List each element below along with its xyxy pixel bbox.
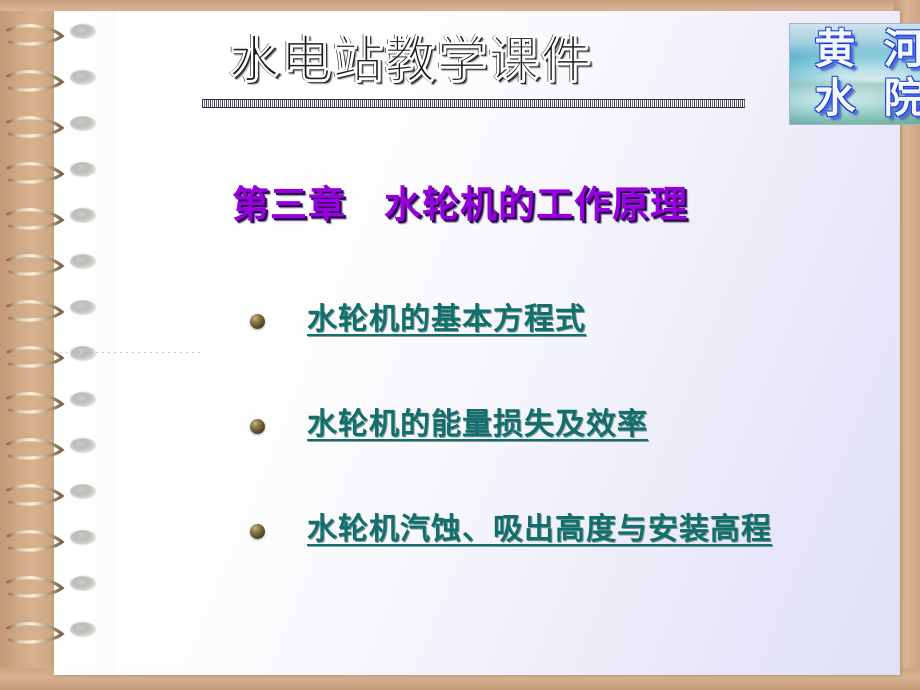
section-link-cavitation-suction-height[interactable]: 水轮机汽蚀、吸出高度与安装高程: [307, 507, 772, 553]
notebook-cover-top: [0, 0, 920, 11]
institute-logo: 黄 河 水 院: [789, 23, 920, 125]
punch-hole-icon: [70, 484, 96, 499]
faint-guide-line: [54, 352, 204, 353]
punch-hole-icon: [70, 70, 96, 85]
punch-hole-icon: [70, 530, 96, 545]
list-item[interactable]: 水轮机的能量损失及效率: [250, 402, 920, 507]
punch-hole-icon: [70, 162, 96, 177]
sphere-bullet-icon: [250, 314, 265, 329]
punch-hole-icon: [70, 300, 96, 315]
section-link-energy-loss-efficiency[interactable]: 水轮机的能量损失及效率: [307, 402, 648, 448]
punch-hole-icon: [70, 346, 96, 361]
list-item[interactable]: 水轮机的基本方程式: [250, 297, 920, 402]
punch-hole-icon: [70, 208, 96, 223]
punch-hole-icon: [70, 116, 96, 131]
punch-hole-icon: [70, 438, 96, 453]
institute-logo-text: 黄 河 水 院: [790, 24, 920, 123]
title-underline-rule: [202, 99, 745, 108]
punch-hole-strip: [54, 11, 116, 675]
punch-hole-icon: [70, 24, 96, 39]
presentation-slide: 水电站教学课件 黄 河 水 院 第三章 水轮机的工作原理 水轮机的基本方程式 水…: [0, 0, 920, 690]
chapter-heading: 第三章 水轮机的工作原理: [232, 179, 688, 231]
bullet-list: 水轮机的基本方程式 水轮机的能量损失及效率 水轮机汽蚀、吸出高度与安装高程: [250, 297, 920, 612]
deck-title: 水电站教学课件: [229, 23, 769, 101]
sphere-bullet-icon: [250, 419, 265, 434]
list-item[interactable]: 水轮机汽蚀、吸出高度与安装高程: [250, 507, 920, 612]
punch-hole-icon: [70, 576, 96, 591]
section-link-basic-equation[interactable]: 水轮机的基本方程式: [307, 297, 586, 343]
punch-hole-icon: [70, 254, 96, 269]
punch-hole-icon: [70, 622, 96, 637]
punch-hole-icon: [70, 392, 96, 407]
logo-line-2: 水 院: [790, 74, 920, 123]
logo-line-1: 黄 河: [790, 25, 920, 74]
slide-canvas: 水电站教学课件 黄 河 水 院 第三章 水轮机的工作原理 水轮机的基本方程式 水…: [54, 11, 900, 675]
sphere-bullet-icon: [250, 524, 265, 539]
